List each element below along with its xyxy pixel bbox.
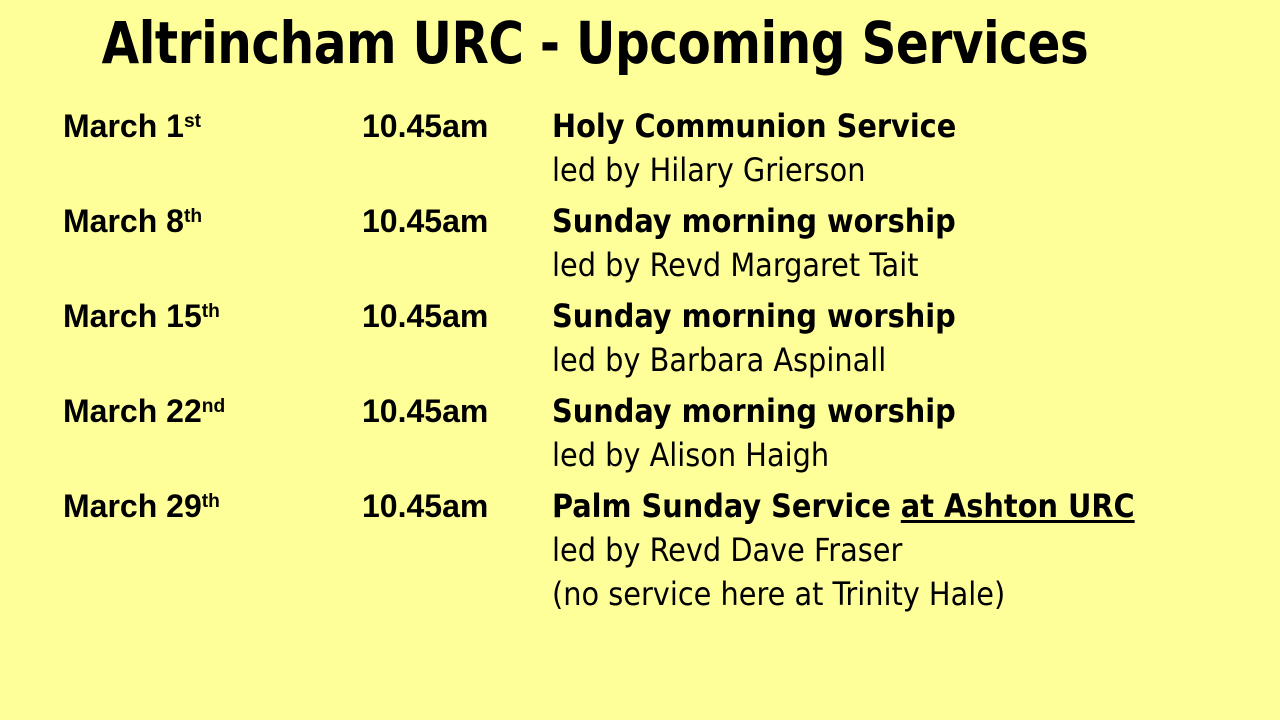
service-row: March 15th 10.45am Sunday morning worshi… [63, 294, 1263, 389]
service-title-line: Sunday morning worship [552, 389, 1252, 433]
service-title-line: Sunday morning worship [552, 199, 1252, 243]
service-leader-line: led by Barbara Aspinall [552, 338, 1252, 382]
service-date: March 8th [63, 199, 353, 249]
service-title-text: Sunday morning worship [552, 392, 956, 430]
service-row: March 8th 10.45am Sunday morning worship… [63, 199, 1263, 294]
service-detail: Sunday morning worship led by Barbara As… [552, 294, 1252, 382]
service-date-ordinal: th [184, 206, 202, 227]
service-date-text: March 15 [63, 298, 202, 334]
service-title-text: Sunday morning worship [552, 297, 956, 335]
service-date-ordinal: th [202, 491, 220, 512]
service-title-emphasis: at Ashton URC [901, 487, 1135, 525]
service-leader-line: led by Revd Dave Fraser [552, 528, 1252, 572]
service-row: March 1st 10.45am Holy Communion Service… [63, 104, 1263, 199]
service-detail: Palm Sunday Service at Ashton URC led by… [552, 484, 1252, 616]
service-title-line: Palm Sunday Service at Ashton URC [552, 484, 1252, 528]
service-date-text: March 29 [63, 488, 202, 524]
service-row: March 22nd 10.45am Sunday morning worshi… [63, 389, 1263, 484]
service-date-ordinal: st [184, 111, 201, 132]
page-title: Altrincham URC - Upcoming Services [42, 12, 1149, 74]
service-detail: Sunday morning worship led by Revd Marga… [552, 199, 1252, 287]
service-title-line: Sunday morning worship [552, 294, 1252, 338]
service-title-text: Sunday morning worship [552, 202, 956, 240]
service-date-ordinal: th [202, 301, 220, 322]
slide-canvas: Altrincham URC - Upcoming Services March… [0, 0, 1280, 720]
service-time: 10.45am [362, 484, 562, 528]
service-title-text: Holy Communion Service [552, 107, 956, 145]
service-time: 10.45am [362, 104, 562, 148]
service-date: March 1st [63, 104, 353, 154]
service-time: 10.45am [362, 199, 562, 243]
service-detail: Sunday morning worship led by Alison Hai… [552, 389, 1252, 477]
service-date-ordinal: nd [202, 396, 225, 417]
service-date: March 22nd [63, 389, 353, 439]
service-detail: Holy Communion Service led by Hilary Gri… [552, 104, 1252, 192]
service-leader-line: led by Alison Haigh [552, 433, 1252, 477]
service-schedule-list: March 1st 10.45am Holy Communion Service… [63, 104, 1263, 484]
service-date-text: March 22 [63, 393, 202, 429]
service-title-text: Palm Sunday Service [552, 487, 901, 525]
service-title-line: Holy Communion Service [552, 104, 1252, 148]
service-leader-line: led by Hilary Grierson [552, 148, 1252, 192]
service-time: 10.45am [362, 294, 562, 338]
service-date-text: March 8 [63, 203, 184, 239]
service-date: March 29th [63, 484, 353, 534]
service-leader-line: led by Revd Margaret Tait [552, 243, 1252, 287]
service-time: 10.45am [362, 389, 562, 433]
service-date-text: March 1 [63, 108, 184, 144]
service-date: March 15th [63, 294, 353, 344]
service-note-line: (no service here at Trinity Hale) [552, 572, 1252, 616]
